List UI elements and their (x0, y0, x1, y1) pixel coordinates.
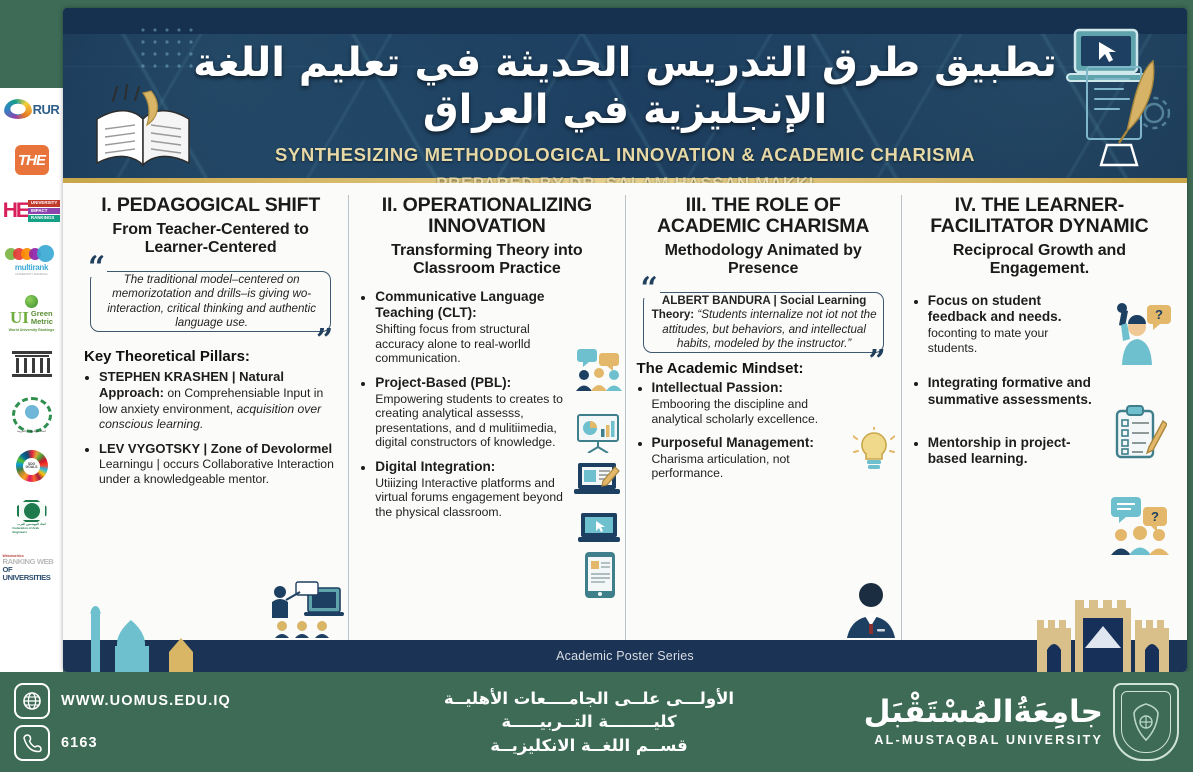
bullet-body: Shifting focus from structural accuracy … (375, 322, 569, 366)
bullet-body: Learningu | occurs Collaborative Interac… (99, 457, 334, 486)
globe-icon (14, 683, 50, 719)
people-chat-icon (575, 347, 623, 391)
bullet-body: Charisma articulation, not performance. (652, 452, 850, 481)
he-label: HE (3, 196, 28, 226)
rur-label: RUR (33, 102, 60, 117)
list-item: Intellectual Passion: Embooring the disc… (652, 380, 890, 426)
he-line-3: RANKINGS (28, 215, 60, 221)
column-1-heading: I. PEDAGOGICAL SHIFT (84, 195, 337, 216)
column-2-heading: II. OPERATIONALIZING INNOVATION (360, 195, 613, 237)
column-3-heading: III. THE ROLE OF ACADEMIC CHARISMA (637, 195, 890, 237)
column-3-quote-text: “Students internalize not iot not the at… (662, 308, 876, 350)
bullet-lead: Intellectual Passion: (652, 380, 850, 397)
footer-phone-text: 6163 (61, 735, 98, 751)
brand-name-english: AL-MUSTAQBAL UNIVERSITY (864, 733, 1103, 747)
poster-series-label: Academic Poster Series (556, 649, 694, 663)
he-line-1: UNIVERSITY (28, 200, 60, 206)
laptop-cursor-icon (577, 511, 621, 545)
column-3-bullets: Intellectual Passion: Embooring the disc… (637, 380, 890, 481)
footer-contact: WWW.UOMUS.EDU.IQ 6163 (0, 677, 330, 767)
webometrics-logo: Webometrics RANKING WEB OF UNIVERSITIES (3, 547, 61, 589)
svg-text:?: ? (1151, 509, 1159, 524)
multirank-label: multirank (15, 263, 48, 272)
column-3-subheading: Methodology Animated by Presence (637, 242, 890, 278)
poster-title-arabic: تطبيق طرق التدريس الحديثة في تعليم اللغة… (63, 40, 1187, 134)
webometrics-label-2: OF UNIVERSITIES (3, 566, 61, 582)
he-impact-rankings-logo: HE UNIVERSITY IMPACT RANKINGS (3, 190, 61, 232)
ui-metric-label: Metric (31, 318, 53, 326)
bullet-body: Embooring the discipline and analytical … (652, 397, 850, 426)
teacher-classroom-icon (268, 580, 344, 638)
mosque-silhouette-icon (85, 594, 235, 672)
column-academic-charisma: III. THE ROLE OF ACADEMIC CHARISMA Metho… (626, 195, 902, 640)
column-2-subheading: Transforming Theory into Classroom Pract… (360, 242, 613, 278)
columns-icon (12, 350, 52, 378)
bullet-body: foconting to mate your students. (928, 326, 1096, 355)
column-pedagogical-shift: I. PEDAGOGICAL SHIFT From Teacher-Center… (73, 195, 349, 640)
ui-sub: World University Rankings (9, 328, 55, 332)
arab-eng-sub: Federation of Arab Engineers (13, 526, 51, 534)
bullet-lead: Focus on student feedback and needs. (928, 293, 1096, 326)
he-line-2: IMPACT (28, 208, 60, 214)
page-footer: WWW.UOMUS.EDU.IQ 6163 الأولـــى علــى ال… (0, 672, 1193, 772)
column-learner-facilitator-dynamic: IV. THE LEARNER-FACILITATOR DYNAMIC Reci… (902, 195, 1177, 640)
the-badge-icon: THE (15, 145, 49, 175)
bullet-lead: Purposeful Management: (652, 435, 850, 452)
column-4-heading: IV. THE LEARNER-FACILITATOR DYNAMIC (913, 195, 1166, 237)
student-raising-hand-icon: ? (1109, 303, 1173, 365)
list-item: Integrating formative and summative asse… (928, 375, 1166, 408)
poster-header: تطبيق طرق التدريس الحديثة في تعليم اللغة… (63, 8, 1187, 183)
group-discussion-icon: ? (1109, 495, 1171, 555)
castle-gate-icon (1021, 594, 1181, 672)
bullet-lead: Digital Integration: (375, 459, 569, 476)
lightbulb-icon (853, 427, 895, 473)
arab-universities-logo: اتحاد الجامعات العربية (3, 394, 61, 436)
column-operationalizing-innovation: II. OPERATIONALIZING INNOVATION Transfor… (349, 195, 625, 640)
poster-card: تطبيق طرق التدريس الحديثة في تعليم اللغة… (63, 8, 1187, 672)
the-ranking-logo: THE (3, 139, 61, 181)
list-item: STEPHEN KRASHEN | Natural Approach: on C… (99, 369, 337, 432)
footer-website-row[interactable]: WWW.UOMUS.EDU.IQ (14, 683, 330, 719)
column-3-section-heading: The Academic Mindset: (637, 360, 890, 377)
bullet-body: Empowering students to creates to creati… (375, 392, 569, 451)
column-1-subheading: From Teacher-Centered to Learner-Centere… (84, 221, 337, 257)
bullet-lead: Project-Based (PBL): (375, 375, 569, 392)
tablet-icon (583, 551, 617, 599)
quote-close-icon: ” (314, 332, 335, 350)
column-1-quote-text: The traditional model–centered on memori… (97, 273, 326, 331)
column-1-quote-block: “ ” The traditional model–centered on me… (88, 268, 333, 336)
classic-columns-logo (3, 343, 61, 385)
bullet-lead: LEV VYGOTSKY | Zone of Devolormel (99, 441, 332, 456)
university-shield-icon (1113, 683, 1179, 761)
bullet-lead: Integrating formative and summative asse… (928, 375, 1096, 408)
sdg-label: SDG GOALS (23, 458, 40, 475)
bullet-body: Utiiizing Interactive platforms and virt… (375, 476, 569, 520)
sdg-wheel-icon: SDG GOALS (16, 450, 48, 482)
footer-website-text: WWW.UOMUS.EDU.IQ (61, 693, 231, 709)
rail-top-fill (0, 0, 63, 88)
quote-open-icon: “ (86, 259, 107, 277)
left-ranking-rail: RUR THE HE UNIVERSITY IMPACT RANKINGS (0, 0, 63, 772)
poster-root: RUR THE HE UNIVERSITY IMPACT RANKINGS (0, 0, 1193, 772)
list-item: LEV VYGOTSKY | Zone of Devolormel Learni… (99, 441, 337, 487)
poster-prepared-by: PREPARED BY DR. SALAM HASSAN MAKKI (63, 174, 1187, 183)
column-1-bullets: STEPHEN KRASHEN | Natural Approach: on C… (84, 369, 337, 487)
quote-close-icon: ” (866, 353, 887, 371)
header-texts: تطبيق طرق التدريس الحديثة في تعليم اللغة… (63, 8, 1187, 183)
footer-brand: جامِعَةُالمُسْتَقْبَل AL-MUSTAQBAL UNIVE… (848, 683, 1193, 761)
multirank-sub: UNIVERSITY RANKING (15, 272, 47, 276)
poster-columns: I. PEDAGOGICAL SHIFT From Teacher-Center… (63, 183, 1187, 640)
rur-eye-icon (4, 99, 32, 119)
octagon-icon (17, 500, 47, 522)
footer-arabic-line-2: كليــــــــة التــربيـــــة (330, 710, 848, 733)
green-globe-icon (25, 295, 38, 308)
footer-arabic-line-1: الأولـــى علــى الجامــــعات الأهليــة (330, 687, 848, 710)
quote-open-icon: “ (639, 280, 660, 298)
column-3-quote-body: ALBERT BANDURA | Social Learning Theory:… (650, 294, 879, 352)
the-label: THE (18, 152, 45, 169)
wreath-icon: اتحاد الجامعات العربية (12, 398, 52, 432)
column-1-section-heading: Key Theoretical Pillars: (84, 348, 337, 365)
phone-icon (14, 725, 50, 761)
ui-label: UI (10, 308, 29, 328)
presentation-chart-icon (575, 413, 621, 453)
umultirank-logo: multirank UNIVERSITY RANKING (3, 241, 61, 283)
ui-greenmetric-logo: UI Green Metric World University Ranking… (3, 292, 61, 334)
column-3-quote-block: “ ” ALBERT BANDURA | Social Learning The… (641, 289, 886, 357)
column-4-subheading: Reciprocal Growth and Engagement. (913, 242, 1166, 278)
footer-arabic-block: الأولـــى علــى الجامــــعات الأهليــة ك… (330, 687, 848, 757)
brand-name-arabic: جامِعَةُالمُسْتَقْبَل (864, 697, 1103, 728)
arab-engineers-logo: اتحاد المهندسين العرب Federation of Arab… (3, 496, 61, 538)
footer-phone-row[interactable]: 6163 (14, 725, 330, 761)
clipboard-pencil-icon (1113, 405, 1167, 461)
arab-univ-label: اتحاد الجامعات العربية (17, 429, 46, 433)
multirank-circles-icon (9, 248, 54, 262)
poster-subtitle: SYNTHESIZING METHODOLOGICAL INNOVATION &… (63, 144, 1187, 166)
svg-text:?: ? (1155, 307, 1163, 322)
businessman-avatar-icon (843, 580, 899, 638)
bullet-lead: Communicative Language Teaching (CLT): (375, 289, 569, 322)
bullet-lead: Mentorship in project-based learning. (928, 435, 1096, 468)
rur-ranking-logo: RUR (3, 88, 61, 130)
laptop-edit-icon (573, 461, 621, 499)
sdg-wheel-logo: SDG GOALS (3, 445, 61, 487)
footer-arabic-line-3: قســم اللغــة الانكليزيــة (330, 734, 848, 757)
